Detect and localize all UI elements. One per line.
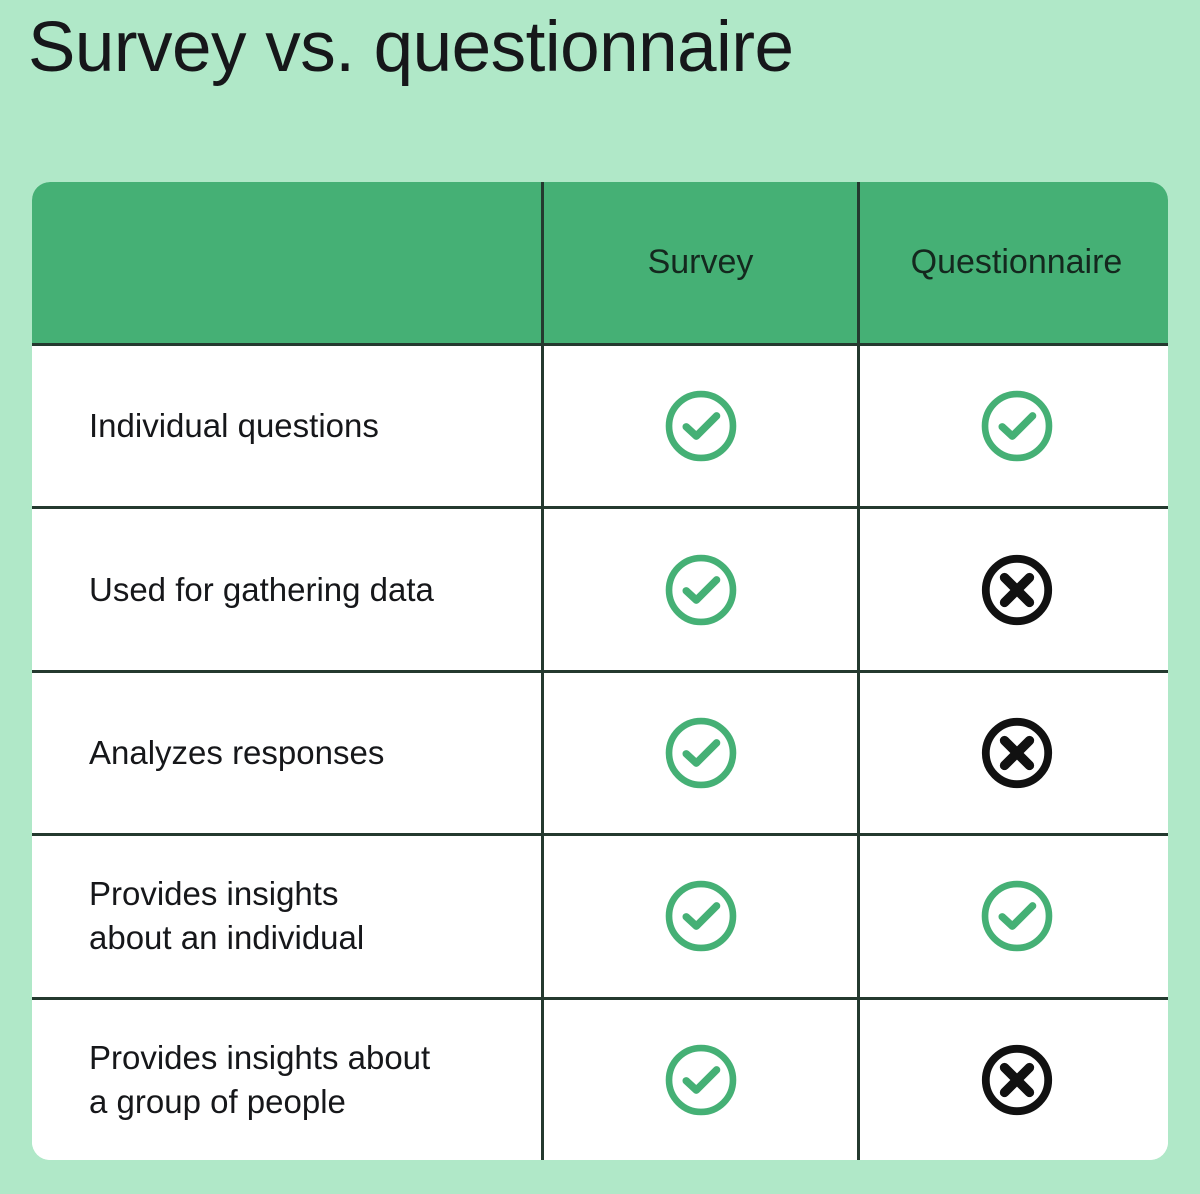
feature-text: Provides insights about an individual xyxy=(89,872,364,960)
check-circle-icon xyxy=(662,877,740,955)
table-row: Provides insights about an individual xyxy=(32,833,1168,996)
table-row: Analyzes responses xyxy=(32,670,1168,833)
check-circle-icon xyxy=(978,877,1056,955)
table-row: Provides insights about a group of peopl… xyxy=(32,997,1168,1160)
check-circle-icon xyxy=(662,387,740,465)
table-header-feature xyxy=(32,182,541,343)
cell-feature-label: Analyzes responses xyxy=(32,673,541,833)
check-circle-icon xyxy=(978,387,1056,465)
cell-questionnaire xyxy=(860,509,1168,669)
table-header-row: Survey Questionnaire xyxy=(32,182,1168,343)
check-circle-icon xyxy=(662,1041,740,1119)
cell-questionnaire xyxy=(860,1000,1168,1160)
check-circle-icon xyxy=(662,551,740,629)
table-header-survey: Survey xyxy=(544,182,857,343)
cell-survey xyxy=(544,673,857,833)
check-circle-icon xyxy=(662,714,740,792)
cell-survey xyxy=(544,1000,857,1160)
table-header-questionnaire: Questionnaire xyxy=(860,182,1168,343)
x-circle-icon xyxy=(978,551,1056,629)
table-row: Individual questions xyxy=(32,343,1168,506)
cell-feature-label: Provides insights about a group of peopl… xyxy=(32,1000,541,1160)
cell-feature-label: Individual questions xyxy=(32,346,541,506)
x-circle-icon xyxy=(978,1041,1056,1119)
cell-feature-label: Used for gathering data xyxy=(32,509,541,669)
cell-questionnaire xyxy=(860,836,1168,996)
page-title: Survey vs. questionnaire xyxy=(28,8,793,88)
feature-text: Analyzes responses xyxy=(89,731,384,775)
cell-questionnaire xyxy=(860,346,1168,506)
cell-survey xyxy=(544,509,857,669)
feature-text: Individual questions xyxy=(89,404,379,448)
comparison-table: Survey Questionnaire Individual question… xyxy=(32,182,1168,1160)
comparison-infographic: Survey vs. questionnaire Survey Question… xyxy=(0,0,1200,1194)
cell-survey xyxy=(544,346,857,506)
feature-text: Used for gathering data xyxy=(89,568,434,612)
table-body: Individual questionsUsed for gathering d… xyxy=(32,343,1168,1160)
cell-survey xyxy=(544,836,857,996)
feature-text: Provides insights about a group of peopl… xyxy=(89,1036,430,1124)
x-circle-icon xyxy=(978,714,1056,792)
cell-feature-label: Provides insights about an individual xyxy=(32,836,541,996)
cell-questionnaire xyxy=(860,673,1168,833)
table-row: Used for gathering data xyxy=(32,506,1168,669)
